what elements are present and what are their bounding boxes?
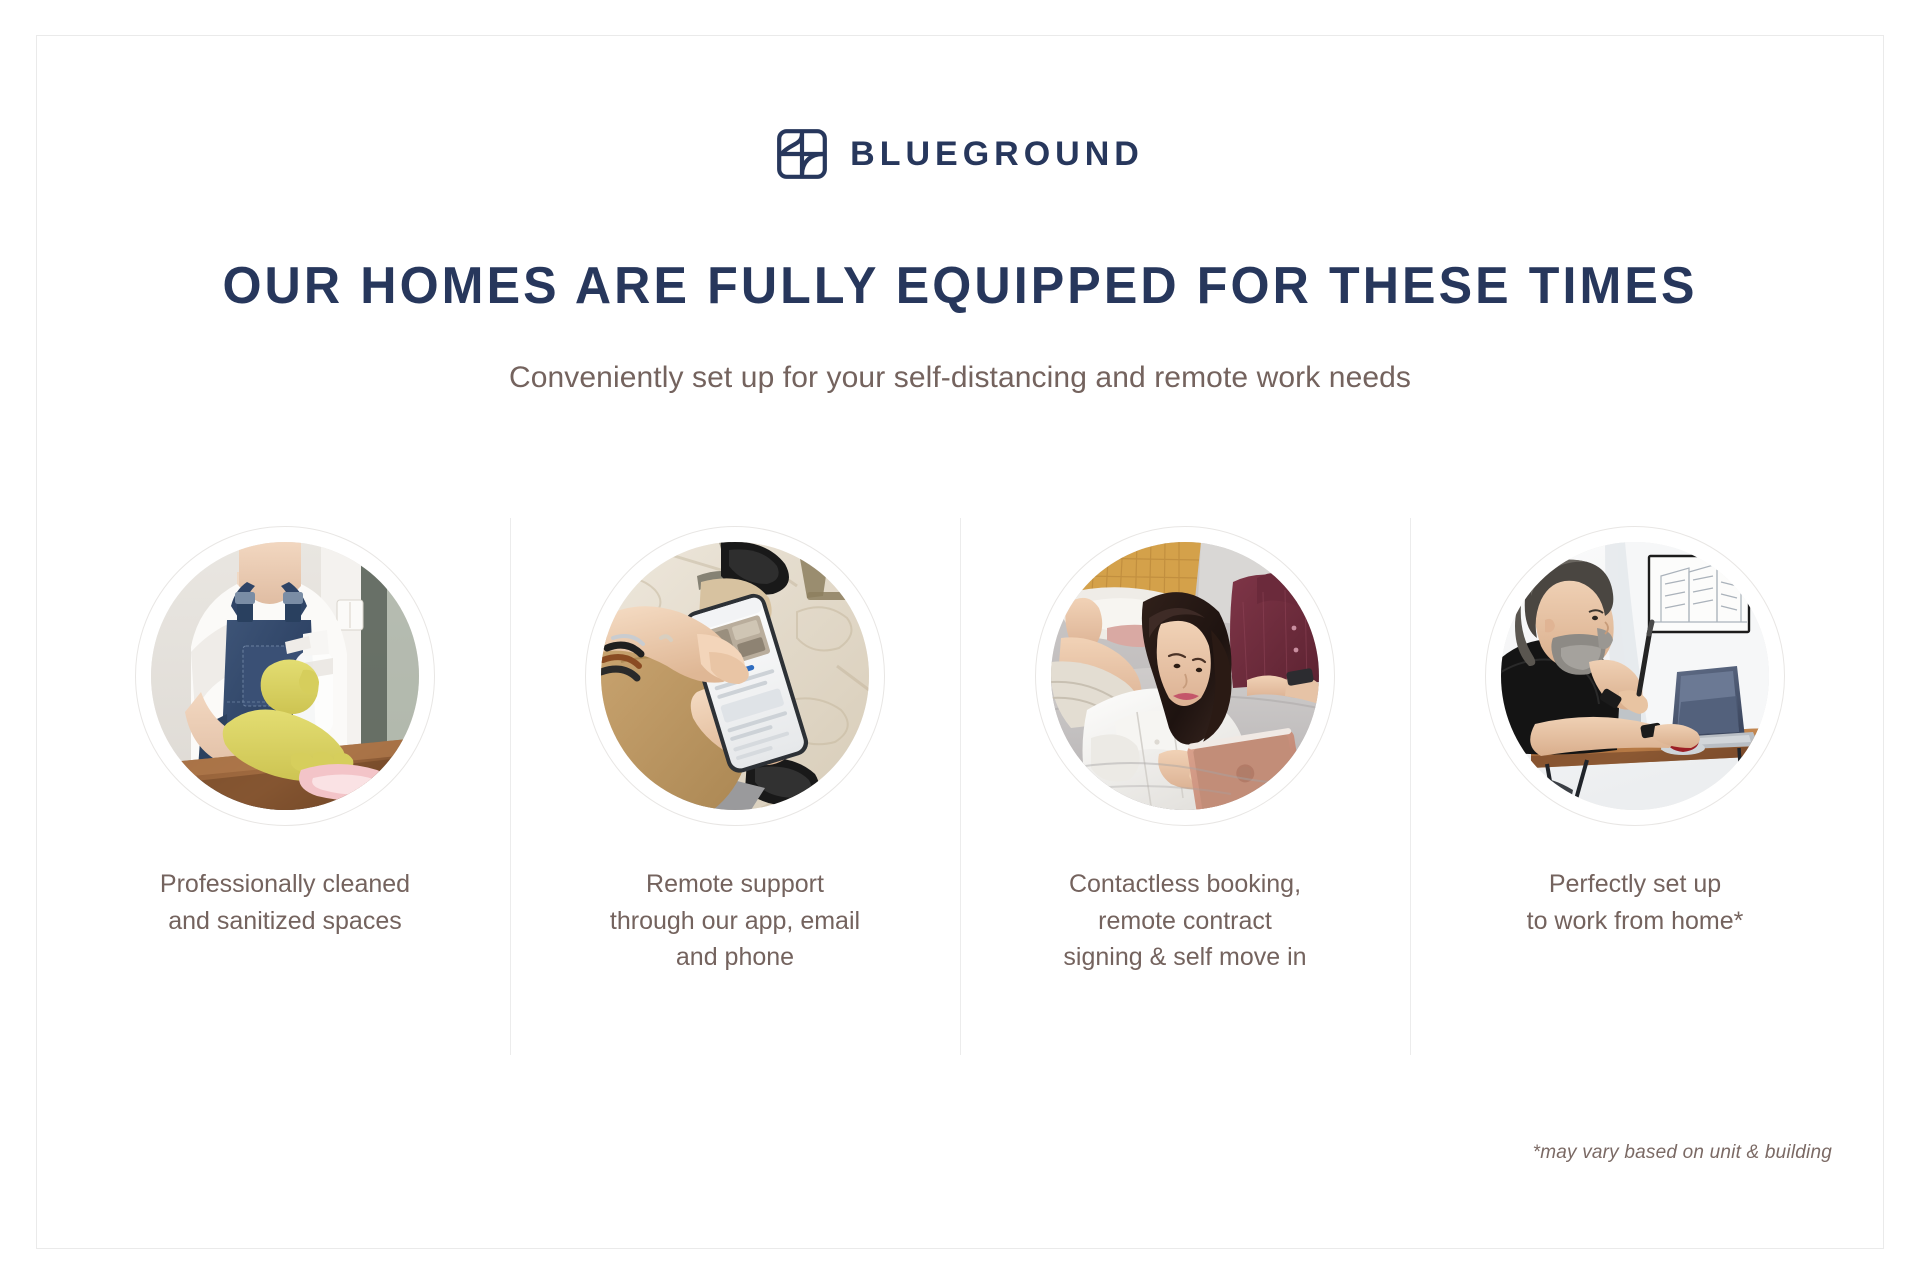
feature-image-frame	[585, 526, 885, 826]
feature-column-remote-support: Remote support through our app, email an…	[510, 518, 960, 1058]
brand-wordmark: BLUEGROUND	[850, 137, 1144, 171]
feature-caption: Perfectly set up to work from home*	[1527, 866, 1744, 939]
footnote-disclaimer: *may vary based on unit & building	[1533, 1142, 1832, 1164]
cleaner-wiping-counter-photo	[151, 542, 419, 810]
feature-columns: Professionally cleaned and sanitized spa…	[60, 518, 1860, 1058]
feature-caption: Remote support through our app, email an…	[610, 866, 860, 976]
feature-caption: Contactless booking, remote contract sig…	[1063, 866, 1306, 976]
brand-logo: BLUEGROUND	[0, 128, 1920, 180]
feature-column-contactless-booking: Contactless booking, remote contract sig…	[960, 518, 1410, 1058]
marketing-poster: BLUEGROUND OUR HOMES ARE FULLY EQUIPPED …	[0, 0, 1920, 1280]
feature-image-frame	[135, 526, 435, 826]
woman-with-tablet-on-bed-photo	[1051, 542, 1319, 810]
page-title: OUR HOMES ARE FULLY EQUIPPED FOR THESE T…	[34, 258, 1887, 314]
hands-holding-smartphone-photo	[601, 542, 869, 810]
feature-caption: Professionally cleaned and sanitized spa…	[160, 866, 410, 939]
man-working-at-desk-photo	[1501, 542, 1769, 810]
page-subtitle: Conveniently set up for your self-distan…	[0, 358, 1920, 397]
feature-column-cleaning: Professionally cleaned and sanitized spa…	[60, 518, 510, 1058]
blueground-square-mark-icon	[776, 128, 828, 180]
feature-image-frame	[1485, 526, 1785, 826]
feature-image-frame	[1035, 526, 1335, 826]
feature-column-work-from-home: Perfectly set up to work from home*	[1410, 518, 1860, 1058]
